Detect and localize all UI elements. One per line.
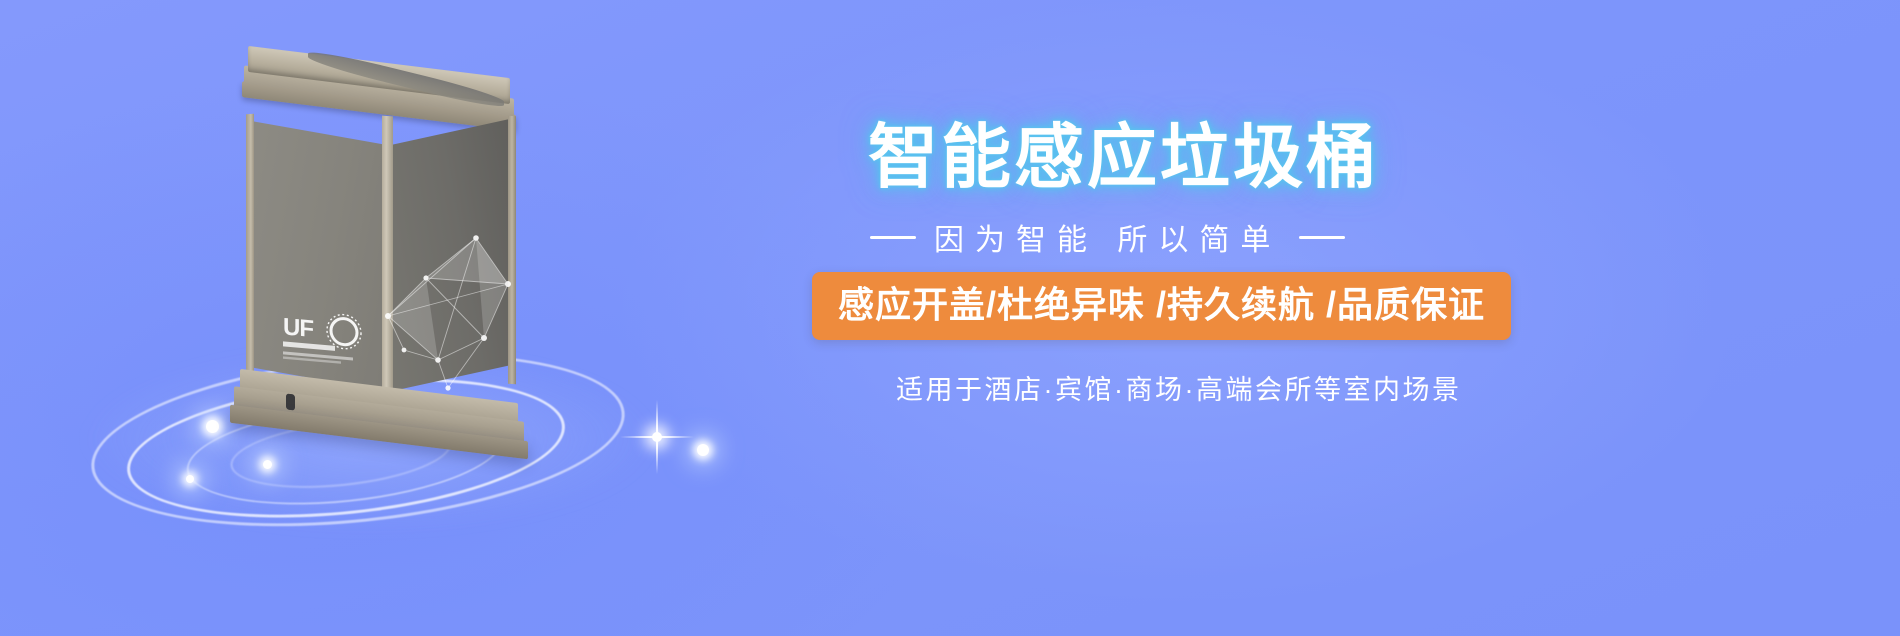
sparkle-dot-icon (206, 420, 219, 433)
ufo-brand-logo: UF (282, 308, 368, 370)
polygon-network-graphic (380, 220, 520, 395)
feature-highlight-bar: 感应开盖/杜绝异味 /持久续航 /品质保证 (812, 272, 1511, 340)
dash-left-icon (870, 236, 916, 239)
sparkle-dot-icon (186, 475, 194, 483)
feature-highlight-text: 感应开盖/杜绝异味 /持久续航 /品质保证 (838, 285, 1485, 325)
product-promo-banner: UF 智能感应垃圾桶 因为智能 所以简单 感应开盖/杜绝异味 /持久续航 /品质… (0, 0, 1900, 636)
product-scene: UF (60, 40, 700, 520)
sparkle-core (652, 432, 662, 442)
motion-sensor-icon (286, 393, 295, 410)
usage-scenario-text: 适用于酒店·宾馆·商场·高端会所等室内场景 (896, 368, 1461, 407)
sparkle-dot-icon (697, 444, 709, 456)
banner-headline: 智能感应垃圾桶 (868, 122, 1379, 192)
svg-text:UF: UF (283, 313, 313, 343)
banner-subtitle: 因为智能 所以简单 (934, 215, 1281, 259)
banner-subtitle-row: 因为智能 所以简单 (870, 215, 1345, 259)
sparkle-dot-icon (263, 460, 272, 469)
smart-trash-bin-product: UF (230, 50, 530, 450)
bin-edge-left (246, 114, 254, 387)
dash-right-icon (1299, 236, 1345, 239)
four-point-sparkle-icon (620, 400, 694, 474)
marketing-copy-block: 智能感应垃圾桶 因为智能 所以简单 感应开盖/杜绝异味 /持久续航 /品质保证 … (860, 0, 1760, 636)
